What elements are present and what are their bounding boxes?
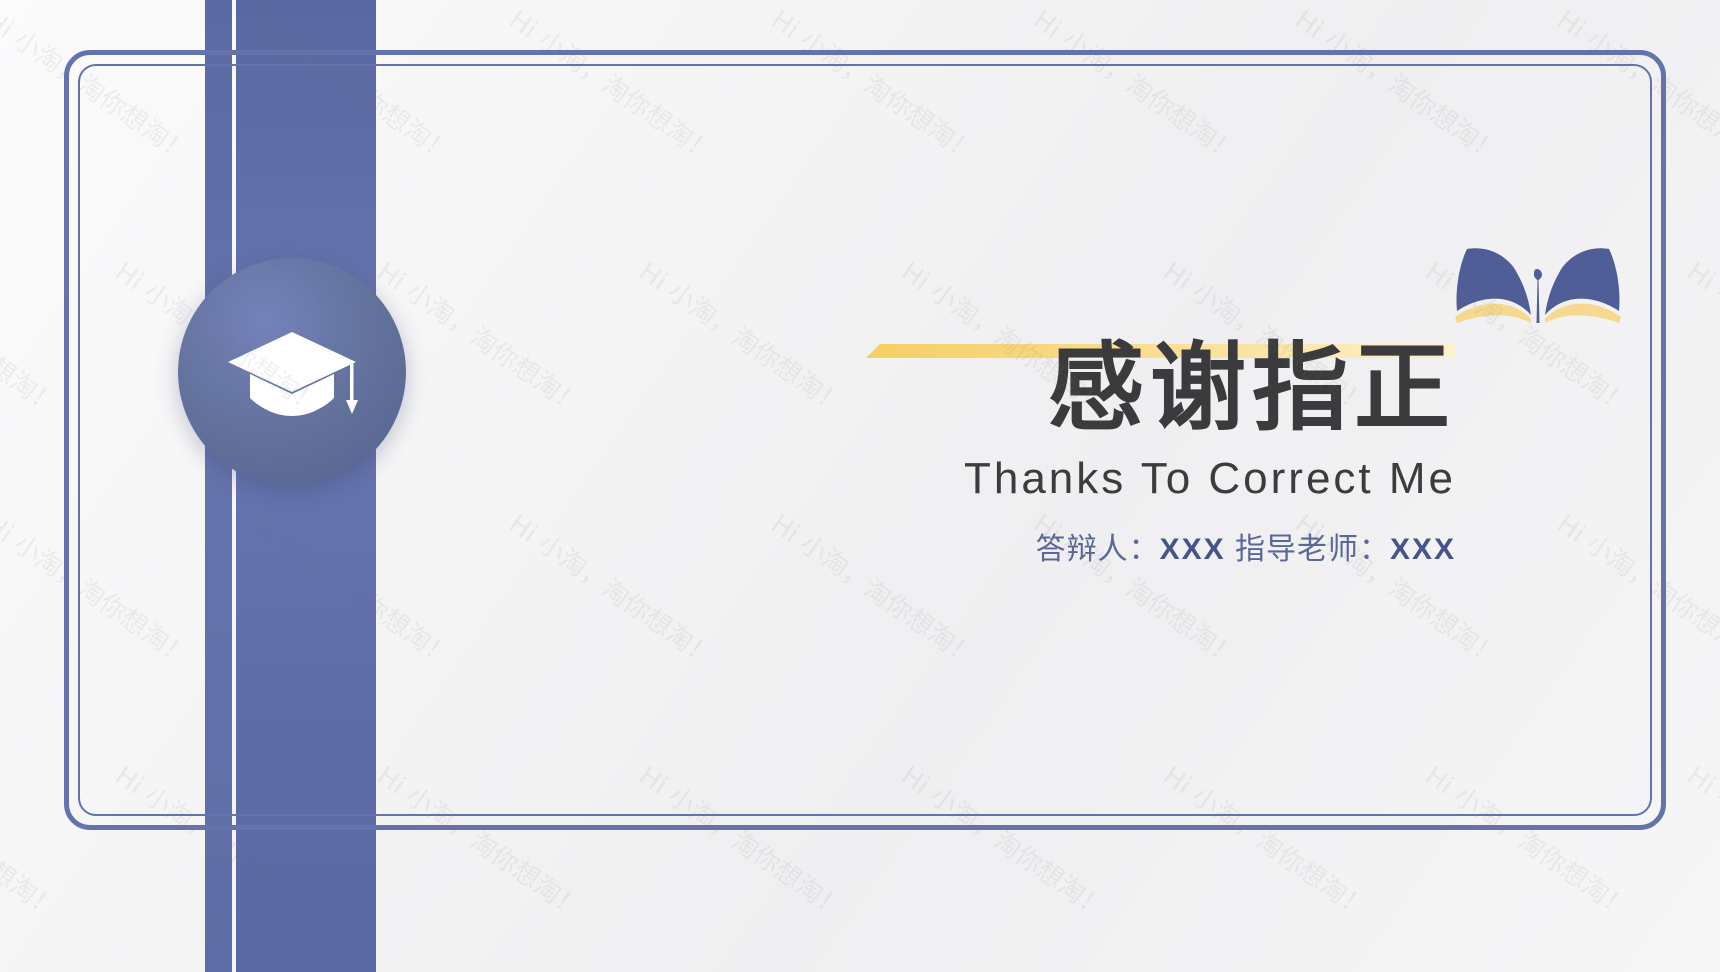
watermark-text: Hi 小淘，淘你想淘！ bbox=[503, 0, 723, 170]
presenter-label: 答辩人： bbox=[1036, 533, 1160, 566]
title-block: 感谢指正 Thanks To Correct Me 答辩人：XXX 指导老师：X… bbox=[600, 330, 1456, 569]
left-accent-stripe-wide bbox=[236, 0, 376, 972]
watermark-text: Hi 小淘，淘你想淘！ bbox=[1681, 756, 1720, 926]
watermark-text: Hi 小淘，淘你想淘！ bbox=[1289, 0, 1509, 170]
watermark-text: Hi 小淘，淘你想淘！ bbox=[765, 0, 985, 170]
watermark-text: Hi 小淘，淘你想淘！ bbox=[371, 756, 591, 926]
watermark-text: Hi 小淘，淘你想淘！ bbox=[1681, 252, 1720, 422]
page-subtitle: Thanks To Correct Me bbox=[600, 453, 1456, 506]
watermark-text: Hi 小淘，淘你想淘！ bbox=[1419, 756, 1639, 926]
watermark-text: Hi 小淘，淘你想淘！ bbox=[0, 0, 199, 170]
watermark-text: Hi 小淘，淘你想淘！ bbox=[0, 756, 67, 926]
watermark-text: Hi 小淘，淘你想淘！ bbox=[1027, 0, 1247, 170]
advisor-name: XXX bbox=[1390, 533, 1456, 566]
watermark-text: Hi 小淘，淘你想淘！ bbox=[0, 252, 67, 422]
watermark-text: Hi 小淘，淘你想淘！ bbox=[0, 504, 199, 674]
graduation-cap-icon bbox=[222, 312, 362, 432]
watermark-text: Hi 小淘，淘你想淘！ bbox=[633, 756, 853, 926]
watermark-text: Hi 小淘，淘你想淘！ bbox=[1157, 756, 1377, 926]
watermark-text: Hi 小淘，淘你想淘！ bbox=[895, 756, 1115, 926]
open-book-icon bbox=[1443, 235, 1633, 325]
graduation-cap-badge bbox=[178, 258, 406, 486]
left-accent-stripe-thin bbox=[205, 0, 232, 972]
watermark-text: Hi 小淘，淘你想淘！ bbox=[1551, 504, 1720, 674]
advisor-label: 指导老师： bbox=[1226, 533, 1390, 566]
presenter-line: 答辩人：XXX 指导老师：XXX bbox=[600, 530, 1456, 569]
watermark-text: Hi 小淘，淘你想淘！ bbox=[371, 252, 591, 422]
presenter-name: XXX bbox=[1160, 533, 1226, 566]
watermark-text: Hi 小淘，淘你想淘！ bbox=[1551, 0, 1720, 170]
slide-canvas: 感谢指正 Thanks To Correct Me 答辩人：XXX 指导老师：X… bbox=[0, 0, 1720, 972]
page-title: 感谢指正 bbox=[600, 330, 1456, 447]
